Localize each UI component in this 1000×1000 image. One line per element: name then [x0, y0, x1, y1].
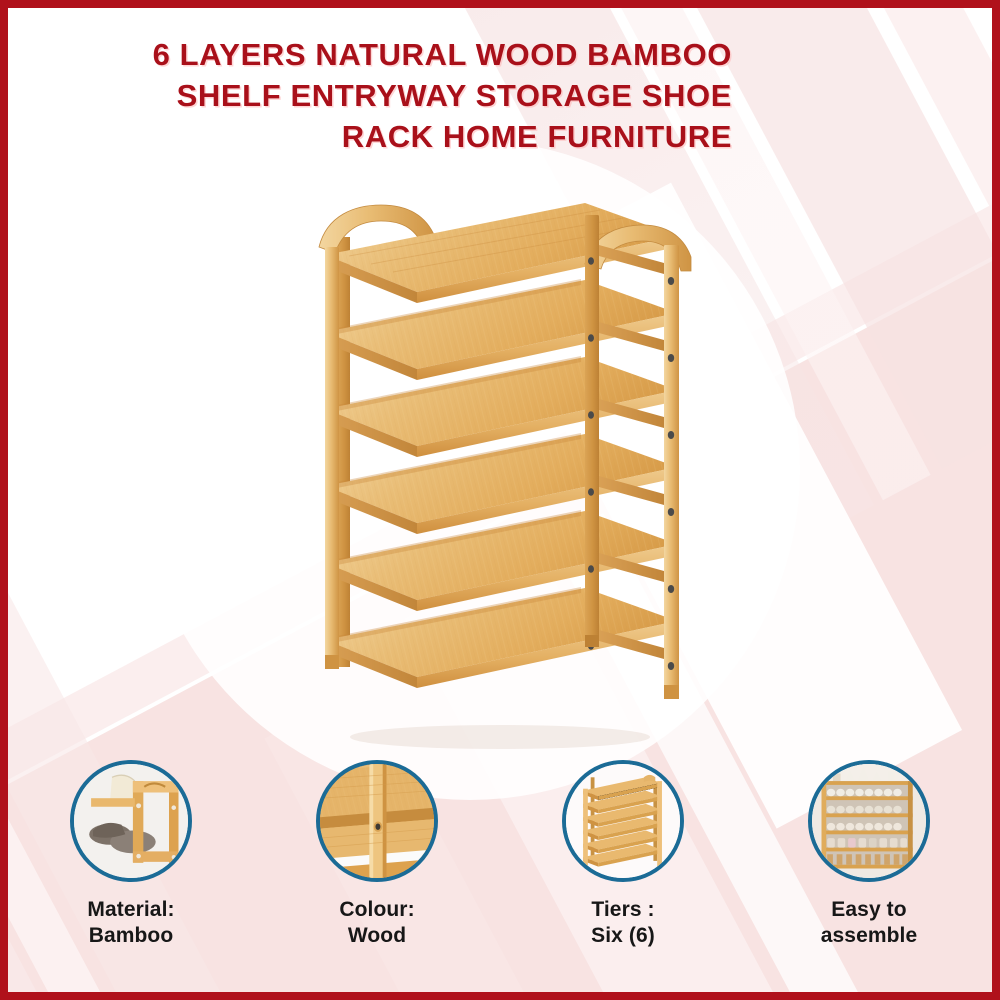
product-title-line-1: 6 LAYERS NATURAL WOOD BAMBOO — [120, 34, 732, 75]
feature-item-material: Material: Bamboo — [8, 760, 254, 975]
feature-label-line-2: assemble — [821, 923, 918, 949]
feature-label-line-2: Bamboo — [87, 923, 174, 949]
feature-item-tiers: Tiers : Six (6) — [500, 760, 746, 975]
feature-label-line-1: Colour: — [339, 897, 414, 923]
filled-shoe-shelf-icon — [808, 760, 930, 882]
feature-label-colour: Colour: Wood — [339, 897, 414, 949]
feature-label-line-1: Material: — [87, 897, 174, 923]
feature-label-line-1: Tiers : — [591, 897, 655, 923]
six-tier-rack-svg — [566, 764, 680, 878]
foot-front-left — [325, 655, 339, 669]
bamboo-shoe-rack-illustration — [285, 185, 715, 755]
bamboo-grain-closeup-svg — [320, 764, 434, 878]
front-left-post — [325, 247, 339, 665]
feature-item-colour: Colour: Wood — [254, 760, 500, 975]
product-title: 6 LAYERS NATURAL WOOD BAMBOO SHELF ENTRY… — [120, 34, 732, 157]
product-title-line-2: SHELF ENTRYWAY STORAGE SHOE — [120, 75, 732, 116]
feature-label-material: Material: Bamboo — [87, 897, 174, 949]
feature-item-assembly: Easy to assemble — [746, 760, 992, 975]
front-right-post — [664, 245, 679, 695]
six-tier-rack-icon — [562, 760, 684, 882]
feature-label-line-2: Six (6) — [591, 923, 655, 949]
shelf-tier-1-top — [319, 203, 691, 303]
product-listing-banner: 6 LAYERS NATURAL WOOD BAMBOO SHELF ENTRY… — [0, 0, 1000, 1000]
bamboo-grain-closeup-icon — [316, 760, 438, 882]
foot-front-right — [664, 685, 679, 699]
product-title-line-3: RACK HOME FURNITURE — [120, 116, 732, 157]
shoe-rack-closeup-svg — [74, 764, 188, 878]
feature-highlights-row: Material: Bamboo — [8, 760, 992, 975]
feature-label-assembly: Easy to assemble — [821, 897, 918, 949]
filled-shoe-shelf-svg — [812, 764, 926, 878]
hero-product-image — [285, 185, 715, 755]
shoe-rack-closeup-icon — [70, 760, 192, 882]
feature-label-line-1: Easy to — [821, 897, 918, 923]
feature-label-tiers: Tiers : Six (6) — [591, 897, 655, 949]
feature-label-line-2: Wood — [339, 923, 414, 949]
back-right-post — [585, 215, 599, 645]
foot-back-right — [585, 635, 599, 647]
